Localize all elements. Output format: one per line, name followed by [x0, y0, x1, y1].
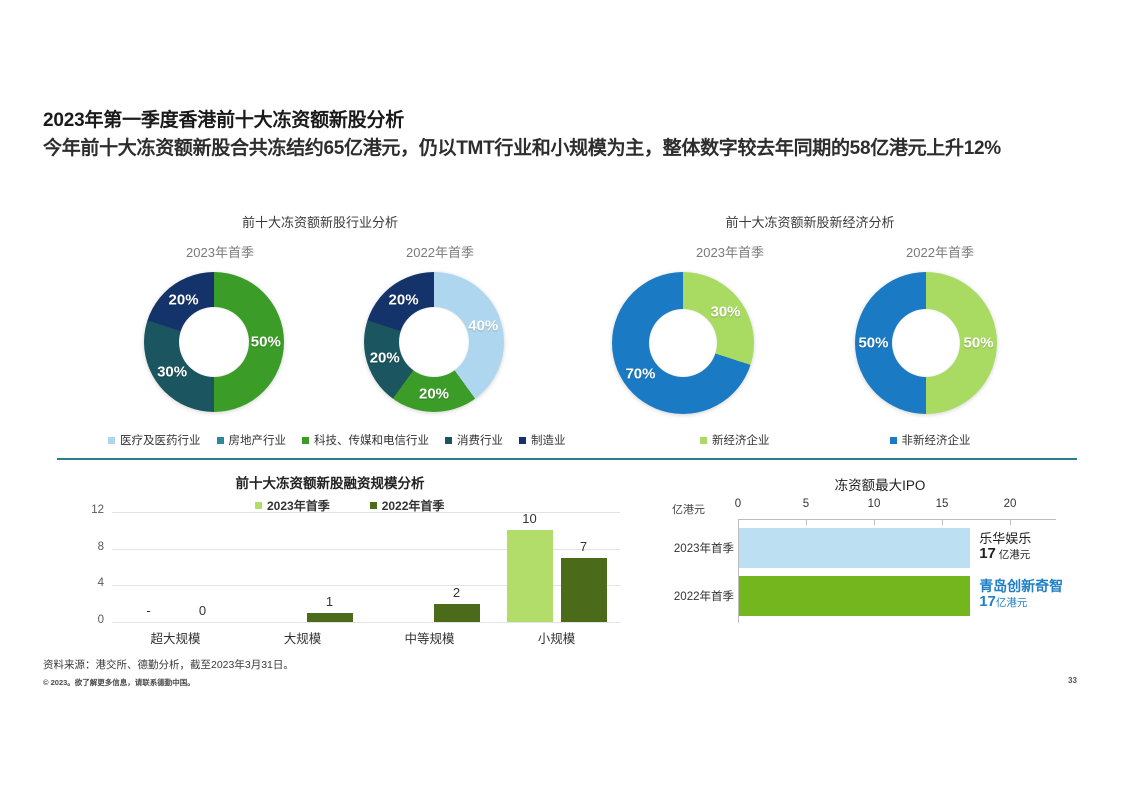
neweco-2022-slice-label: 50%: [858, 335, 888, 352]
legend-swatch-icon: [255, 502, 262, 509]
page-number: 33: [1068, 676, 1077, 685]
ipo-amount: 17: [979, 593, 996, 610]
neweco-2022-center: [892, 309, 960, 377]
industry-2022-slice-label: 20%: [370, 350, 400, 367]
x-axis-tick: 20: [1004, 498, 1017, 510]
size-bar[interactable]: [561, 558, 607, 622]
ipo-company-name: 青岛创新奇智: [979, 579, 1063, 594]
industry-2023-year-label: 2023年首季: [130, 242, 310, 261]
size-bar-chart: 12840-0超大规模1大规模2中等规模107小规模: [60, 512, 620, 622]
neweco-2023-year-label: 2023年首季: [640, 242, 820, 261]
source-note: 资料来源：港交所、德勤分析，截至2023年3月31日。: [43, 657, 294, 672]
axis-tick-mark: [942, 519, 943, 525]
slide: 2023年第一季度香港前十大冻资额新股分析 今年前十大冻资额新股合共冻结约65亿…: [0, 0, 1122, 793]
y-axis-tick: 4: [60, 577, 104, 589]
industry-2023-center: [179, 307, 249, 377]
bar-value-label: 7: [561, 539, 607, 554]
industry-2023-slice-label: 30%: [157, 364, 187, 381]
x-axis-category: 中等规模: [366, 628, 493, 647]
ipo-amount-unit: 亿港元: [996, 549, 1030, 561]
neweco-legend-label: 非新经济企业: [902, 432, 971, 448]
ipo-bar-chart: 亿港元 051015202023年首季乐华娱乐17 亿港元2022年首季青岛创新…: [672, 498, 1092, 628]
neweco-legend: 新经济企业非新经济企业: [700, 432, 1091, 448]
header: 2023年第一季度香港前十大冻资额新股分析 今年前十大冻资额新股合共冻结约65亿…: [43, 110, 1093, 162]
bar-value-label: 2: [434, 585, 480, 600]
ipo-amount: 17: [979, 545, 996, 562]
axis-tick-mark: [874, 519, 875, 525]
neweco-2022-slice-label: 50%: [964, 335, 994, 352]
neweco-donut-2023: 30%70%: [612, 272, 754, 414]
neweco-2023-slice-label: 30%: [710, 304, 740, 321]
neweco-2022-year-label: 2022年首季: [850, 242, 1030, 261]
y-axis-tick: 12: [60, 504, 104, 516]
neweco-donut-2022: 50%50%: [855, 272, 997, 414]
legend-swatch-icon: [890, 437, 897, 444]
ipo-bar[interactable]: [739, 528, 970, 568]
ipo-amount-row: 17亿港元: [979, 594, 1063, 611]
axis-tick-mark: [1010, 519, 1011, 525]
legend-swatch-icon: [519, 437, 526, 444]
ipo-bar[interactable]: [739, 576, 970, 616]
industry-2023-slice-label: 20%: [169, 292, 199, 309]
x-axis-tick: 10: [868, 498, 881, 510]
y-axis-tick: 8: [60, 541, 104, 553]
industry-legend-item[interactable]: 制造业: [519, 432, 566, 448]
industry-legend: 医疗及医药行业房地产行业科技、传媒和电信行业消费行业制造业: [108, 432, 582, 448]
legend-swatch-icon: [370, 502, 377, 509]
legend-swatch-icon: [217, 437, 224, 444]
x-axis-category: 小规模: [493, 628, 620, 647]
page-title: 2023年第一季度香港前十大冻资额新股分析: [43, 110, 1093, 132]
neweco-2023-slice-label: 70%: [625, 365, 655, 382]
copyright-note: © 2023。欲了解更多信息，请联系德勤中国。: [43, 677, 195, 688]
section-divider: [57, 458, 1077, 460]
neweco-2023-center: [649, 309, 717, 377]
axis-tick-mark: [806, 519, 807, 525]
neweco-legend-item[interactable]: 新经济企业: [700, 432, 770, 448]
x-axis-tick: 15: [936, 498, 949, 510]
x-axis-category: 超大规模: [112, 628, 239, 647]
industry-2023-slice-label: 50%: [251, 334, 281, 351]
x-axis-tick: 5: [803, 498, 809, 510]
size-bar[interactable]: [307, 613, 353, 622]
neweco-legend-item[interactable]: 非新经济企业: [890, 432, 971, 448]
neweco-section-title: 前十大冻资额新股新经济分析: [610, 212, 1010, 231]
ipo-chart-title: 冻资额最大IPO: [760, 474, 1000, 494]
size-chart-title: 前十大冻资额新股融资规模分析: [130, 472, 530, 492]
industry-legend-item[interactable]: 医疗及医药行业: [108, 432, 201, 448]
industry-2022-slice-label: 20%: [419, 385, 449, 402]
bar-value-label: -: [126, 603, 172, 618]
legend-swatch-icon: [302, 437, 309, 444]
ipo-company-label: 乐华娱乐17 亿港元: [979, 531, 1031, 563]
ipo-company-name: 乐华娱乐: [979, 531, 1031, 546]
industry-legend-label: 房地产行业: [229, 432, 287, 448]
industry-2022-slice-label: 40%: [468, 317, 498, 334]
ipo-category-label: 2022年首季: [672, 588, 734, 604]
x-axis-category: 大规模: [239, 628, 366, 647]
industry-legend-item[interactable]: 房地产行业: [217, 432, 287, 448]
industry-legend-label: 消费行业: [457, 432, 503, 448]
ipo-unit-label: 亿港元: [672, 501, 705, 517]
ipo-company-label: 青岛创新奇智17亿港元: [979, 579, 1063, 611]
ipo-category-label: 2023年首季: [672, 540, 734, 556]
gridline: [112, 622, 620, 623]
industry-donut-2023: 50%30%20%: [144, 272, 284, 412]
industry-legend-item[interactable]: 科技、传媒和电信行业: [302, 432, 429, 448]
x-axis-tick: 0: [735, 498, 741, 510]
size-bar[interactable]: [434, 604, 480, 622]
ipo-amount-row: 17 亿港元: [979, 546, 1031, 563]
size-bar[interactable]: [507, 530, 553, 622]
plot-area: -0超大规模1大规模2中等规模107小规模: [112, 512, 620, 622]
legend-swatch-icon: [700, 437, 707, 444]
ipo-amount-unit: 亿港元: [996, 597, 1028, 609]
industry-2022-year-label: 2022年首季: [350, 242, 530, 261]
x-axis-line: [738, 519, 1056, 520]
legend-swatch-icon: [108, 437, 115, 444]
legend-swatch-icon: [445, 437, 452, 444]
neweco-legend-label: 新经济企业: [712, 432, 770, 448]
page-subtitle: 今年前十大冻资额新股合共冻结约65亿港元，仍以TMT行业和小规模为主，整体数字较…: [43, 135, 1093, 162]
industry-legend-item[interactable]: 消费行业: [445, 432, 503, 448]
industry-2022-slice-label: 20%: [389, 292, 419, 309]
bar-value-label: 0: [180, 603, 226, 618]
y-axis-tick: 0: [60, 614, 104, 626]
industry-legend-label: 医疗及医药行业: [120, 432, 201, 448]
industry-donut-2022: 40%20%20%20%: [364, 272, 504, 412]
industry-legend-label: 制造业: [531, 432, 566, 448]
bar-value-label: 1: [307, 594, 353, 609]
industry-legend-label: 科技、传媒和电信行业: [314, 432, 429, 448]
industry-section-title: 前十大冻资额新股行业分析: [130, 212, 510, 231]
bar-value-label: 10: [507, 511, 553, 526]
industry-2022-center: [399, 307, 469, 377]
